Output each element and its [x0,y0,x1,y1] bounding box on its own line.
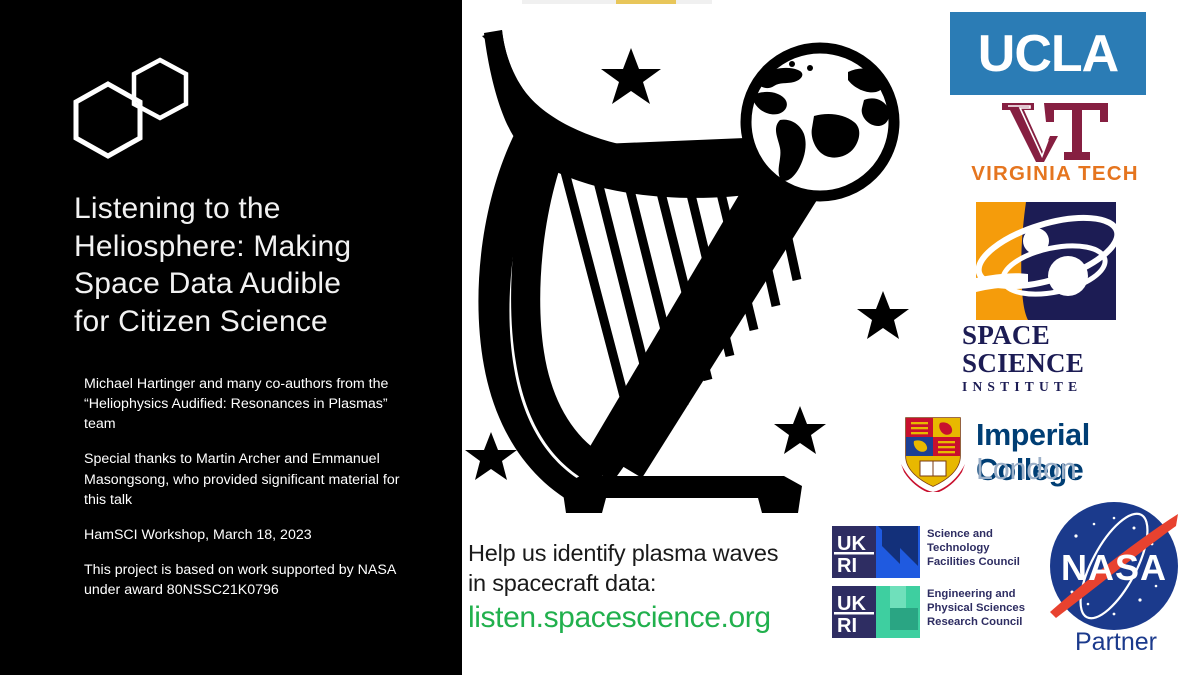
ucla-logo: UCLA [950,12,1146,95]
project-url-link[interactable]: listen.spacescience.org [468,600,848,635]
stfc-caption-line-2: Technology [927,542,1037,556]
title-line-4: for Citizen Science [74,303,444,341]
funding-statement: This project is based on work supported … [84,560,414,600]
harp-base [562,476,802,513]
ukri-stfc-logo: UK RI Science and Technology Facilities … [832,526,1032,584]
globe-icon [746,48,894,196]
ukri-stfc-caption: Science and Technology Facilities Counci… [927,528,1037,570]
harp-with-globe-illustration [462,8,942,528]
cropped-top-bar-gold-segment [616,0,676,4]
vt-monogram-icon [1000,100,1110,162]
epsrc-caption-line-2: Physical Sciences [927,602,1037,616]
epsrc-caption-line-1: Engineering and [927,588,1037,602]
title-line-2: Heliosphere: Making [74,228,444,266]
svg-text:RI: RI [837,555,857,577]
svg-text:RI: RI [837,615,857,637]
virginia-tech-logo: VIRGINIA TECH [955,100,1155,195]
ssi-wordmark: SPACE SCIENCE INSTITUTE [962,322,1142,395]
nasa-partner-label: Partner [1040,628,1192,657]
epsrc-caption-line-3: Research Council [927,616,1037,630]
ssi-line-1: SPACE [962,322,1142,350]
title-line-1: Listening to the [74,190,444,228]
author-list: Michael Hartinger and many co-authors fr… [84,374,414,434]
space-science-institute-logo: SPACE SCIENCE INSTITUTE [962,200,1142,390]
ucla-logo-text: UCLA [978,24,1118,84]
svg-text:NASA: NASA [1061,547,1167,588]
imperial-crest-icon [898,412,968,492]
title-panel: Listening to the Heliosphere: Making Spa… [0,0,462,675]
presentation-slide: Listening to the Heliosphere: Making Spa… [0,0,1200,675]
title-line-3: Space Data Audible [74,265,444,303]
cta-line-2: in spacecraft data: [468,568,848,598]
ssi-line-2: SCIENCE [962,350,1142,378]
hexagon-pair-logo [68,52,198,162]
svg-text:UK: UK [837,593,866,615]
stfc-caption-line-1: Science and [927,528,1037,542]
page-title: Listening to the Heliosphere: Making Spa… [74,190,444,340]
ukri-epsrc-logo: UK RI Engineering and Physical Sciences … [832,586,1032,644]
authors-and-credits: Michael Hartinger and many co-authors fr… [84,374,414,600]
svg-text:UK: UK [837,533,866,555]
call-to-action: Help us identify plasma waves in spacecr… [468,538,848,636]
cta-line-1: Help us identify plasma waves [468,538,848,568]
ukri-mark-icon: UK RI [832,526,920,578]
ukri-epsrc-caption: Engineering and Physical Sciences Resear… [927,588,1037,630]
ssi-orbital-icon [970,200,1125,322]
imperial-college-london-logo: Imperial College London [898,408,1200,496]
stfc-caption-line-3: Facilities Council [927,556,1037,570]
ssi-line-3: INSTITUTE [962,379,1142,395]
event-info: HamSCI Workshop, March 18, 2023 [84,525,414,545]
ukri-mark-icon: UK RI [832,586,920,638]
nasa-meatball-icon: NASA [1048,500,1180,632]
virginia-tech-wordmark: VIRGINIA TECH [955,162,1155,186]
imperial-london-wordmark: London [976,452,1077,487]
nasa-partner-logo: NASA Partner [1040,500,1192,670]
acknowledgement: Special thanks to Martin Archer and Emma… [84,449,414,509]
